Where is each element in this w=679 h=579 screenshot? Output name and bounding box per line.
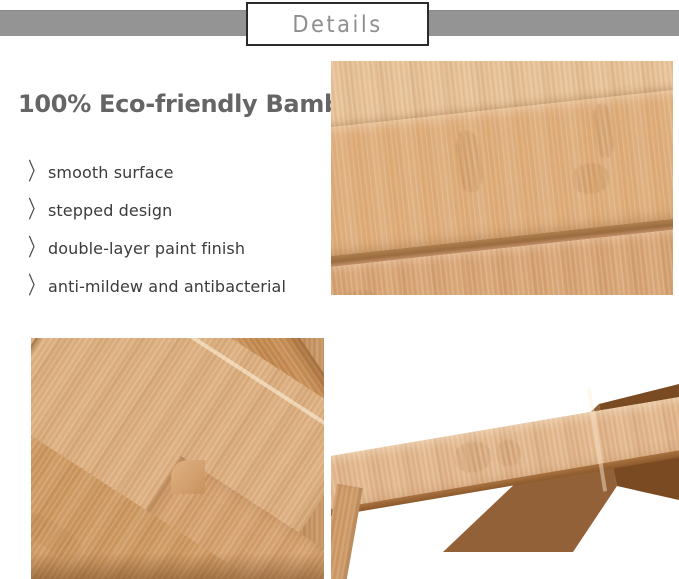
list-item: 〉 double-layer paint finish [28,239,328,277]
shelf-bottom-shadow [31,553,324,579]
feature-label: stepped design [48,201,172,220]
step-rounded-corner [171,460,205,494]
product-photo-stepped-corner [31,338,324,579]
grain-node [453,439,493,475]
page-title: Details [292,12,382,36]
grain-node [495,438,523,468]
header-title-box: Details [246,2,429,46]
list-item: 〉 anti-mildew and antibacterial [28,277,328,315]
bamboo-board-stack [331,61,673,295]
feature-label: anti-mildew and antibacterial [48,277,286,296]
list-item: 〉 smooth surface [28,163,328,201]
grain-node [453,129,486,193]
chevron-right-icon: 〉 [28,275,45,299]
feature-list: 〉 smooth surface 〉 stepped design 〉 doub… [28,163,328,315]
chevron-right-icon: 〉 [28,199,45,223]
chevron-right-icon: 〉 [28,161,45,185]
grain-node [337,288,380,295]
product-photo-bamboo-grain [331,61,673,295]
page-header-banner: Details [0,0,679,50]
grain-node [591,103,617,159]
grain-node [571,162,610,196]
feature-label: smooth surface [48,163,174,182]
product-photo-riser-underside [331,338,679,579]
feature-label: double-layer paint finish [48,239,245,258]
chevron-right-icon: 〉 [28,237,45,261]
headline-text: 100% Eco-friendly Bamboo [18,90,373,118]
list-item: 〉 stepped design [28,201,328,239]
